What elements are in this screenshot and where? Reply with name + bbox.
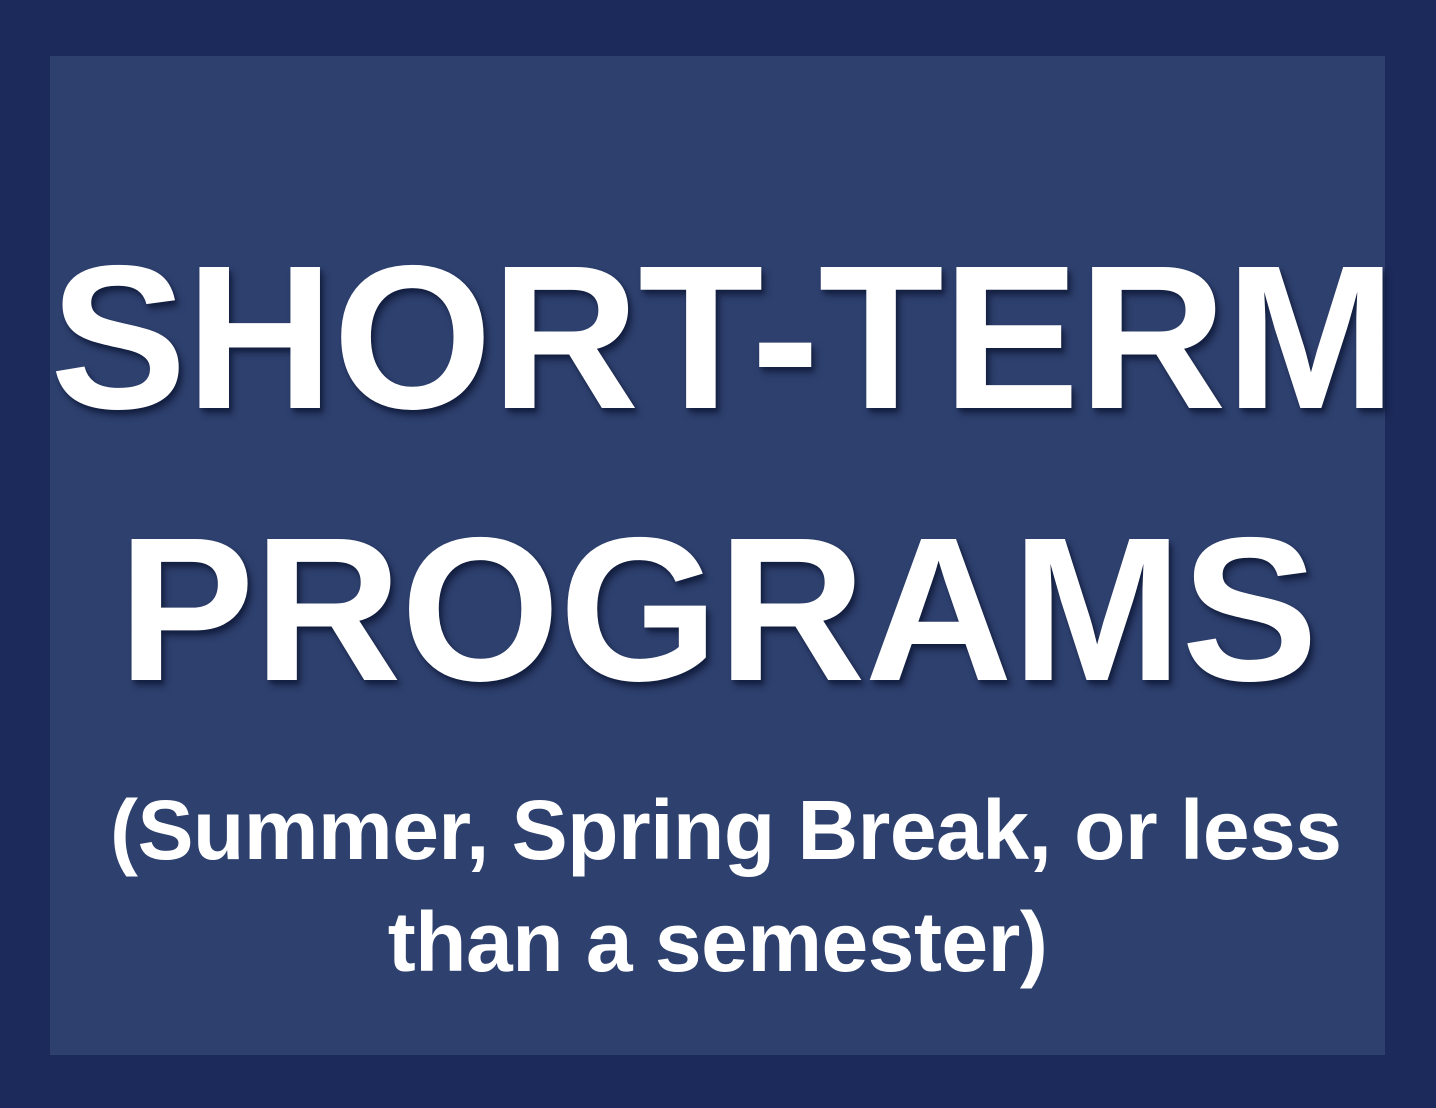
card-inner-panel: SHORT-TERM PROGRAMS (Summer, Spring Brea… <box>50 56 1385 1055</box>
subheadline-line-1: (Summer, Spring Break, or less <box>110 774 1325 886</box>
headline: SHORT-TERM PROGRAMS <box>50 202 1385 746</box>
subheadline: (Summer, Spring Break, or less than a se… <box>110 774 1325 998</box>
headline-line-1: SHORT-TERM <box>50 202 1385 474</box>
card-canvas: SHORT-TERM PROGRAMS (Summer, Spring Brea… <box>0 0 1436 1108</box>
subheadline-line-2: than a semester) <box>110 886 1325 998</box>
headline-line-2: PROGRAMS <box>50 474 1385 746</box>
